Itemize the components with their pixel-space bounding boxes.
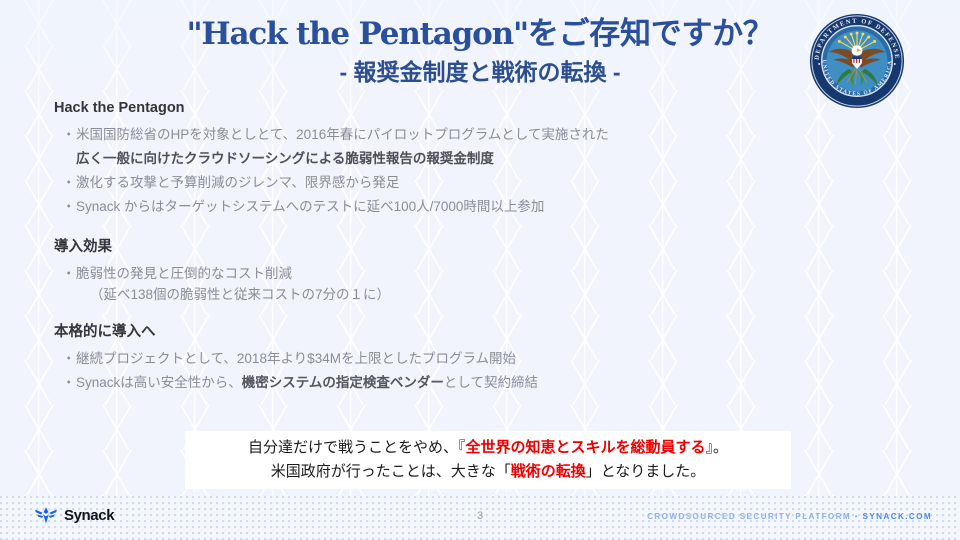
bullet-text-bold: 広く一般に向けたクラウドソーシングによる脆弱性報告の報奨金制度 [76,151,494,166]
bullet-marker: ・ [62,123,76,147]
bullet-text: 脆弱性の発見と圧倒的なコスト削減 [76,266,292,281]
section-spacer [54,304,914,322]
callout-line-2: 米国政府が行ったことは、大きな「戦術の転換」となりました。 [271,460,706,484]
bullet-list: ・ 脆弱性の発見と圧倒的なコスト削減 （延べ138個の脆弱性と従来コストの7分の… [54,262,914,304]
dod-seal-icon: DEPARTMENT OF DEFENSE UNITED STATES OF A… [808,12,906,110]
bullet-marker: ・ [62,171,76,195]
footer-tagline-text: CROWDSOURCED SECURITY PLATFORM • [647,512,862,521]
slide-canvas: "Hack the Pentagon"をご存知ですか？ - 報奨金制度と戦術の転… [0,0,960,540]
slide-body: Hack the Pentagon ・ 米国国防総省のHPを対象としとて、201… [54,98,914,395]
callout-line-2-post: 」となりました。 [586,463,706,480]
list-item: ・Synackは高い安全性から、機密システムの指定検査ベンダーとして契約締結 [54,371,914,395]
list-item: ・ 脆弱性の発見と圧倒的なコスト削減 [54,262,914,286]
bullet-marker: ・ [62,371,76,395]
section-donyu-kouka: 導入効果 ・ 脆弱性の発見と圧倒的なコスト削減 （延べ138個の脆弱性と従来コス… [54,237,914,304]
list-item: ・ 激化する攻撃と予算削減のジレンマ、限界感から発足 [54,171,914,195]
list-item: ・ 継続プロジェクトとして、2018年より$34Mを上限としたプログラム開始 [54,347,914,371]
page-title-japanese: をご存知ですか？ [528,16,774,52]
page-title-english: "Hack the Pentagon" [186,16,527,52]
callout-line-1-pre: 自分達だけで戦うことをやめ、『 [248,439,466,456]
bullet-marker: ・ [62,347,76,371]
section-heading: 本格的に導入へ [54,322,914,342]
dod-seal-svg: DEPARTMENT OF DEFENSE UNITED STATES OF A… [808,12,906,110]
bullet-text: Synack からはターゲットシステムへのテストに延べ100人/7000時間以上… [76,199,544,214]
section-heading: Hack the Pentagon [54,98,914,118]
list-item-subline: （延べ138個の脆弱性と従来コストの7分の１に） [54,286,914,304]
callout-line-2-pre: 米国政府が行ったことは、大きな「 [271,463,511,480]
footer-tagline: CROWDSOURCED SECURITY PLATFORM • SYNACK.… [647,512,932,521]
section-honkakuteki-ni-donyu: 本格的に導入へ ・ 継続プロジェクトとして、2018年より$34Mを上限としたプ… [54,322,914,395]
bullet-marker: ・ [62,262,76,286]
bullet-marker: ・ [62,195,76,219]
bullet-text-bold: 機密システムの指定検査ベンダー [242,375,444,390]
bullet-text: 米国国防総省のHPを対象としとて、2016年春にパイロットプログラムとして実施さ… [76,127,609,142]
callout-line-2-highlight: 戦術の転換 [511,463,586,480]
section-spacer [54,219,914,237]
section-hack-the-pentagon: Hack the Pentagon ・ 米国国防総省のHPを対象としとて、201… [54,98,914,219]
list-item: ・ 米国国防総省のHPを対象としとて、2016年春にパイロットプログラムとして実… [54,123,914,147]
bullet-text-post: として契約締結 [444,375,538,390]
bullet-list: ・ 継続プロジェクトとして、2018年より$34Mを上限としたプログラム開始 ・… [54,347,914,395]
callout-line-1: 自分達だけで戦うことをやめ、『全世界の知恵とスキルを総動員する』。 [248,436,728,460]
list-item: ・ Synack からはターゲットシステムへのテストに延べ100人/7000時間… [54,195,914,219]
callout-line-1-highlight: 全世界の知恵とスキルを総動員する [465,439,705,456]
slide-footer: Synack 3 CROWDSOURCED SECURITY PLATFORM … [0,496,960,540]
bullet-list: ・ 米国国防総省のHPを対象としとて、2016年春にパイロットプログラムとして実… [54,123,914,219]
section-heading: 導入効果 [54,237,914,257]
footer-tagline-domain: SYNACK.COM [863,512,932,521]
callout-box: 自分達だけで戦うことをやめ、『全世界の知恵とスキルを総動員する』。 米国政府が行… [185,431,791,489]
list-item-continuation: 広く一般に向けたクラウドソーシングによる脆弱性報告の報奨金制度 [54,147,914,171]
bullet-text: 継続プロジェクトとして、2018年より$34Mを上限としたプログラム開始 [76,351,516,366]
callout-line-1-post: 』。 [706,439,729,456]
bullet-text-pre: Synackは高い安全性から、 [76,375,242,390]
bullet-text: 激化する攻撃と予算削減のジレンマ、限界感から発足 [76,175,399,190]
